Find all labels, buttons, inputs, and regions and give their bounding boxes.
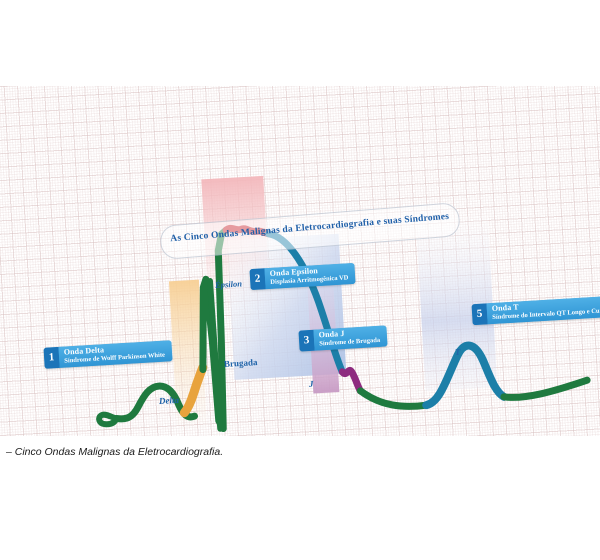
wave-j xyxy=(342,370,360,392)
wave-left-tail xyxy=(99,414,117,425)
ecg-figure: Delta Épsilon Brugada J T As Cinco Ondas… xyxy=(0,86,600,436)
figure-caption: – Cinco Ondas Malignas da Eletrocardiogr… xyxy=(6,446,223,458)
annotation-delta: Delta xyxy=(159,395,180,406)
callout-1-number: 1 xyxy=(44,347,60,368)
callout-5-number: 5 xyxy=(472,303,488,324)
ecg-waveform-stage xyxy=(0,86,600,436)
callout-3-text: Onda J Síndrome de Brugada xyxy=(313,325,387,350)
annotation-brugada: Brugada xyxy=(224,357,258,369)
annotation-j: J xyxy=(309,379,314,389)
callout-2-number: 2 xyxy=(249,268,265,289)
ecg-waveform-svg xyxy=(0,86,600,436)
figure-page: Delta Épsilon Brugada J T As Cinco Ondas… xyxy=(0,0,600,560)
wave-baseline-mid xyxy=(360,387,426,409)
wave-baseline-right xyxy=(503,380,588,398)
annotation-t: T xyxy=(455,347,461,357)
callout-3-number: 3 xyxy=(298,330,314,351)
annotation-epsilon: Épsilon xyxy=(215,278,242,290)
